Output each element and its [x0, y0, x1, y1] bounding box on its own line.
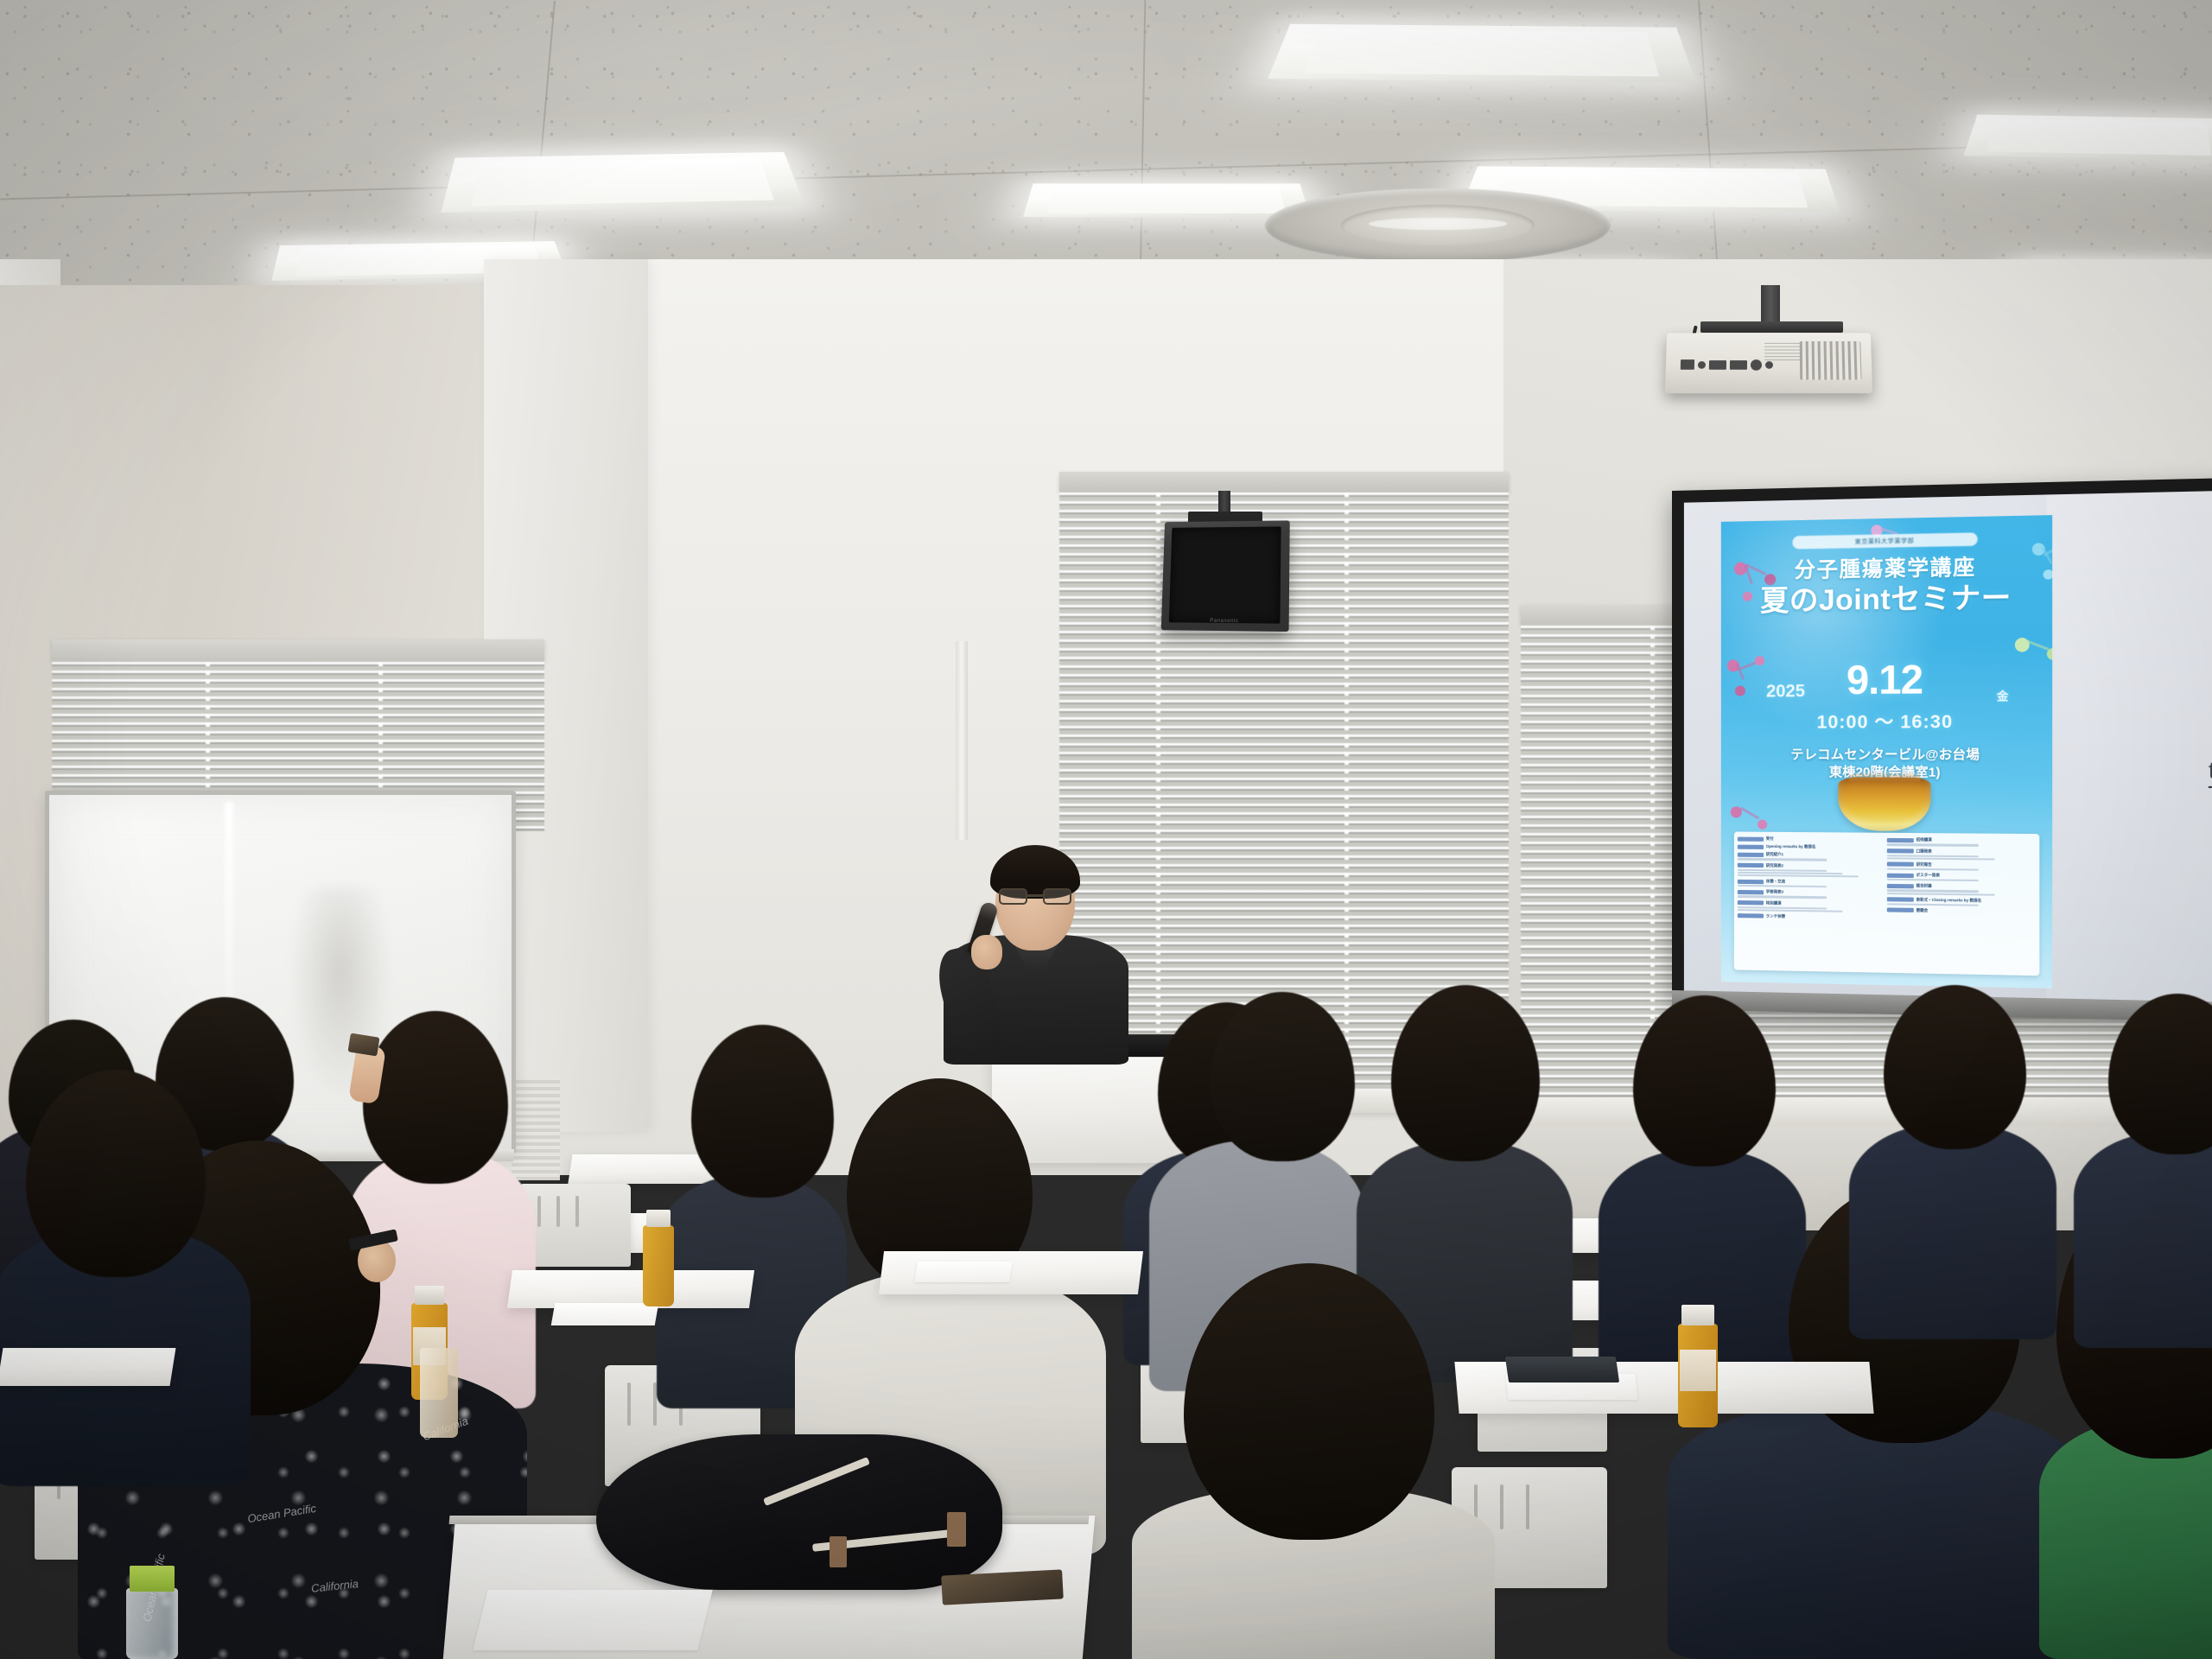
blinds-headrail	[52, 639, 544, 662]
slide-side-text-a: te	[2209, 757, 2212, 789]
schedule-row: 学術発表3	[1738, 889, 1883, 899]
schedule-time-chip	[1738, 900, 1764, 905]
backpack[interactable]	[596, 1434, 1002, 1590]
schedule-time-chip	[1886, 908, 1913, 913]
poster-venue-line1: テレコムセンタービル@お台場	[1721, 744, 2053, 763]
projector-mount	[1761, 285, 1780, 325]
schedule-row: ポスター発表	[1886, 873, 2035, 882]
poster-year: 2025	[1766, 682, 1805, 702]
backpack-tab	[947, 1512, 966, 1547]
schedule-time-chip	[1738, 853, 1764, 857]
schedule-detail-line	[1738, 874, 1859, 878]
schedule-detail-line	[1886, 843, 1978, 846]
schedule-time-chip	[1738, 836, 1764, 841]
schedule-time-chip	[1886, 884, 1913, 888]
poster-schedule-table: 受付Opening remarks by 教授名研究紹介1研究発表2休憩・交流学…	[1734, 832, 2039, 976]
schedule-item-title: 学術発表3	[1766, 890, 1783, 895]
projector-mount-plate	[1700, 321, 1843, 333]
schedule-row: Opening remarks by 教授名	[1738, 844, 1883, 851]
schedule-row-head: 受付	[1738, 836, 1883, 842]
schedule-column-right: 招待講演口頭発表研究報告ポスター発表総合討論表彰式・Closing remark…	[1886, 837, 2035, 971]
schedule-row: 口頭発表	[1886, 849, 2035, 861]
poster-title-line2: 夏のJointセミナー	[1721, 574, 2053, 620]
projection-screen: te P	[1672, 478, 2212, 1022]
schedule-row: 研究発表2	[1738, 862, 1883, 878]
schedule-item-title: 口頭発表	[1916, 849, 1932, 854]
speaker-grill	[1169, 526, 1281, 623]
schedule-row-head: 研究発表2	[1738, 862, 1883, 869]
schedule-detail-line	[1886, 903, 1978, 906]
schedule-detail-line	[1886, 879, 1978, 881]
schedule-time-chip	[1886, 897, 1913, 902]
schedule-row-head: 懇親会	[1886, 907, 2035, 915]
schedule-row: 研究紹介1	[1738, 852, 1883, 861]
ceiling-light-panel	[1964, 115, 2212, 161]
shirt-text: California	[310, 1577, 359, 1595]
ceiling-light-panel	[1023, 183, 1310, 217]
schedule-row: 懇親会	[1886, 907, 2035, 915]
schedule-time-chip	[1738, 863, 1764, 868]
schedule-time-chip	[1886, 838, 1913, 842]
schedule-item-title: ポスター発表	[1916, 873, 1940, 878]
ceiling-air-vent	[1265, 188, 1611, 263]
poster-day-of-week: 金	[1997, 687, 2009, 704]
schedule-row-head: 口頭発表	[1886, 849, 2035, 855]
schedule-row: 休憩・交流	[1738, 879, 1883, 888]
projector-vent	[1799, 341, 1861, 380]
schedule-item-title: 受付	[1766, 836, 1774, 842]
projection-screen-surface: te P	[1684, 491, 2212, 1002]
schedule-item-title: 研究報告	[1916, 862, 1932, 868]
schedule-time-chip	[1886, 862, 1913, 867]
schedule-row: 受付	[1738, 836, 1883, 842]
schedule-time-chip	[1886, 873, 1913, 877]
presenter-hand	[971, 935, 1002, 969]
schedule-time-chip	[1738, 913, 1764, 918]
schedule-item-title: 特別講演	[1766, 900, 1782, 906]
laptop[interactable]	[1505, 1357, 1619, 1382]
schedule-row-head: Opening remarks by 教授名	[1738, 844, 1883, 851]
schedule-detail-line	[1886, 893, 1994, 896]
backpack-tab	[829, 1536, 847, 1567]
ceiling-projector	[1665, 333, 1872, 393]
projector-ports	[1680, 352, 1787, 377]
ceiling-light-panel	[441, 152, 804, 213]
wall-vent-unit	[512, 1077, 560, 1180]
schedule-time-chip	[1738, 880, 1764, 884]
schedule-detail-line	[1738, 858, 1827, 861]
schedule-row: 表彰式・Closing remarks by 教授名	[1886, 897, 2035, 907]
blinds-headrail	[1059, 472, 1509, 493]
schedule-row-head: ランチ休憩	[1738, 913, 1883, 921]
flask-graphic	[1838, 778, 1931, 832]
schedule-item-title: ランチ休憩	[1766, 913, 1785, 918]
schedule-row: 総合討論	[1886, 883, 2035, 896]
presenter-glasses	[999, 888, 1071, 906]
schedule-time-chip	[1738, 845, 1764, 849]
schedule-item-title: 研究紹介1	[1766, 852, 1783, 857]
schedule-item-title: 懇親会	[1916, 908, 1929, 913]
poster-ribbon-label: 東京薬科大学薬学部	[1792, 532, 1978, 550]
seminar-room-photo: Panasonic te P	[0, 0, 2212, 1659]
schedule-row: 研究報告	[1886, 861, 2035, 871]
schedule-item-title: 招待講演	[1916, 838, 1932, 843]
poster-time-range: 10:00 ～ 16:30	[1721, 707, 2053, 734]
schedule-time-chip	[1886, 849, 1913, 853]
bottle-cap	[1681, 1305, 1714, 1325]
slide-right-panel: te P	[2047, 491, 2212, 1002]
schedule-detail-line	[1738, 885, 1827, 887]
window-sill	[1521, 1097, 2212, 1127]
handout-paper[interactable]	[551, 1303, 659, 1325]
schedule-column-left: 受付Opening remarks by 教授名研究紹介1研究発表2休憩・交流学…	[1738, 836, 1883, 969]
schedule-row: 招待講演	[1886, 837, 2035, 847]
schedule-detail-line	[1886, 857, 1994, 860]
schedule-row: 特別講演	[1738, 900, 1883, 913]
bottle-cap	[646, 1210, 671, 1227]
ceiling-speaker: Panasonic	[1161, 520, 1290, 632]
whiteboard-glare	[225, 802, 233, 1021]
bottle-label	[1680, 1350, 1716, 1391]
ceiling-light-panel	[1268, 24, 1695, 83]
handout-paper[interactable]	[914, 1262, 1012, 1282]
schedule-item-title: Opening remarks by 教授名	[1766, 844, 1816, 850]
bottle-cap	[130, 1566, 175, 1592]
schedule-detail-line	[1738, 895, 1827, 899]
desk	[0, 1348, 175, 1386]
schedule-detail-line	[1886, 868, 1978, 871]
speaker-brand-label: Panasonic	[1210, 619, 1238, 624]
schedule-item-title: 表彰式・Closing remarks by 教授名	[1916, 897, 1982, 903]
schedule-time-chip	[1738, 890, 1764, 894]
wall-post	[956, 641, 968, 840]
shirt-text: Ocean Pacific	[246, 1502, 317, 1525]
schedule-item-title: 総合討論	[1916, 884, 1932, 889]
bottle-cap	[415, 1286, 444, 1305]
schedule-detail-line	[1738, 909, 1843, 912]
seminar-poster: 東京薬科大学薬学部 分子腫瘍薬学講座 夏のJointセミナー 9.12 2025…	[1721, 515, 2053, 988]
schedule-item-title: 休憩・交流	[1766, 879, 1785, 884]
handout-paper[interactable]	[473, 1590, 712, 1650]
schedule-row: ランチ休憩	[1738, 913, 1883, 921]
schedule-item-title: 研究発表2	[1766, 863, 1783, 868]
